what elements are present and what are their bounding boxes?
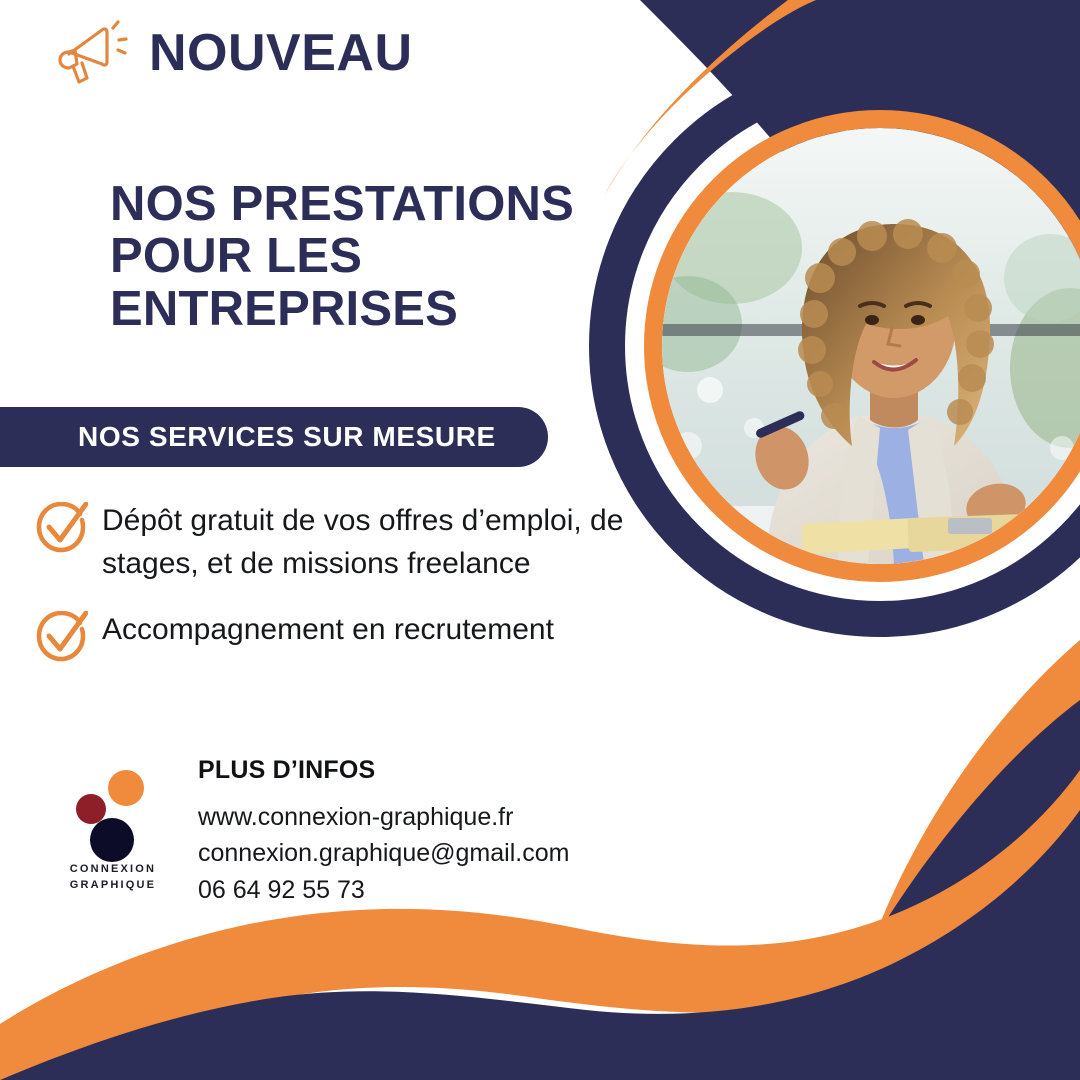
portrait-photo <box>662 128 1080 564</box>
header: NOUVEAU <box>55 18 413 88</box>
logo-wordmark-line-1: CONNEXION <box>58 862 168 878</box>
page-title-line-3: ENTREPRISES <box>110 283 630 335</box>
list-item-label: Dépôt gratuit de vos offres d’emploi, de… <box>102 500 646 585</box>
services-list: Dépôt gratuit de vos offres d’emploi, de… <box>36 500 646 687</box>
contact-phone[interactable]: 06 64 92 55 73 <box>198 872 628 908</box>
nouveau-badge-label: NOUVEAU <box>149 27 413 79</box>
logo-wordmark-line-2: GRAPHIQUE <box>58 878 168 894</box>
list-item-label: Accompagnement en recrutement <box>102 609 554 652</box>
services-ribbon-label: NOS SERVICES SUR MESURE <box>78 421 496 453</box>
brand-logo: CONNEXION GRAPHIQUE <box>58 762 168 894</box>
logo-navy-circle-icon <box>90 818 134 862</box>
list-item: Accompagnement en recrutement <box>36 609 646 663</box>
check-circle-icon <box>36 611 88 663</box>
page-title-line-2: POUR LES <box>110 230 630 282</box>
list-item: Dépôt gratuit de vos offres d’emploi, de… <box>36 500 646 585</box>
contact-title: PLUS D’INFOS <box>198 756 628 785</box>
logo-dots <box>58 762 168 852</box>
contact-website[interactable]: www.connexion-graphique.fr <box>198 799 628 835</box>
promo-poster: NOUVEAU NOS PRESTATIONS POUR LES ENTREPR… <box>0 0 1080 1080</box>
contact-info: PLUS D’INFOS www.connexion-graphique.fr … <box>198 756 628 908</box>
contact-email[interactable]: connexion.graphique@gmail.com <box>198 835 628 871</box>
logo-wordmark: CONNEXION GRAPHIQUE <box>58 862 168 894</box>
services-ribbon: NOS SERVICES SUR MESURE <box>0 407 548 467</box>
page-title-line-1: NOS PRESTATIONS <box>110 178 630 230</box>
page-title: NOS PRESTATIONS POUR LES ENTREPRISES <box>110 178 630 335</box>
megaphone-icon <box>55 18 131 88</box>
check-circle-icon <box>36 502 88 554</box>
logo-orange-circle-icon <box>108 770 144 806</box>
